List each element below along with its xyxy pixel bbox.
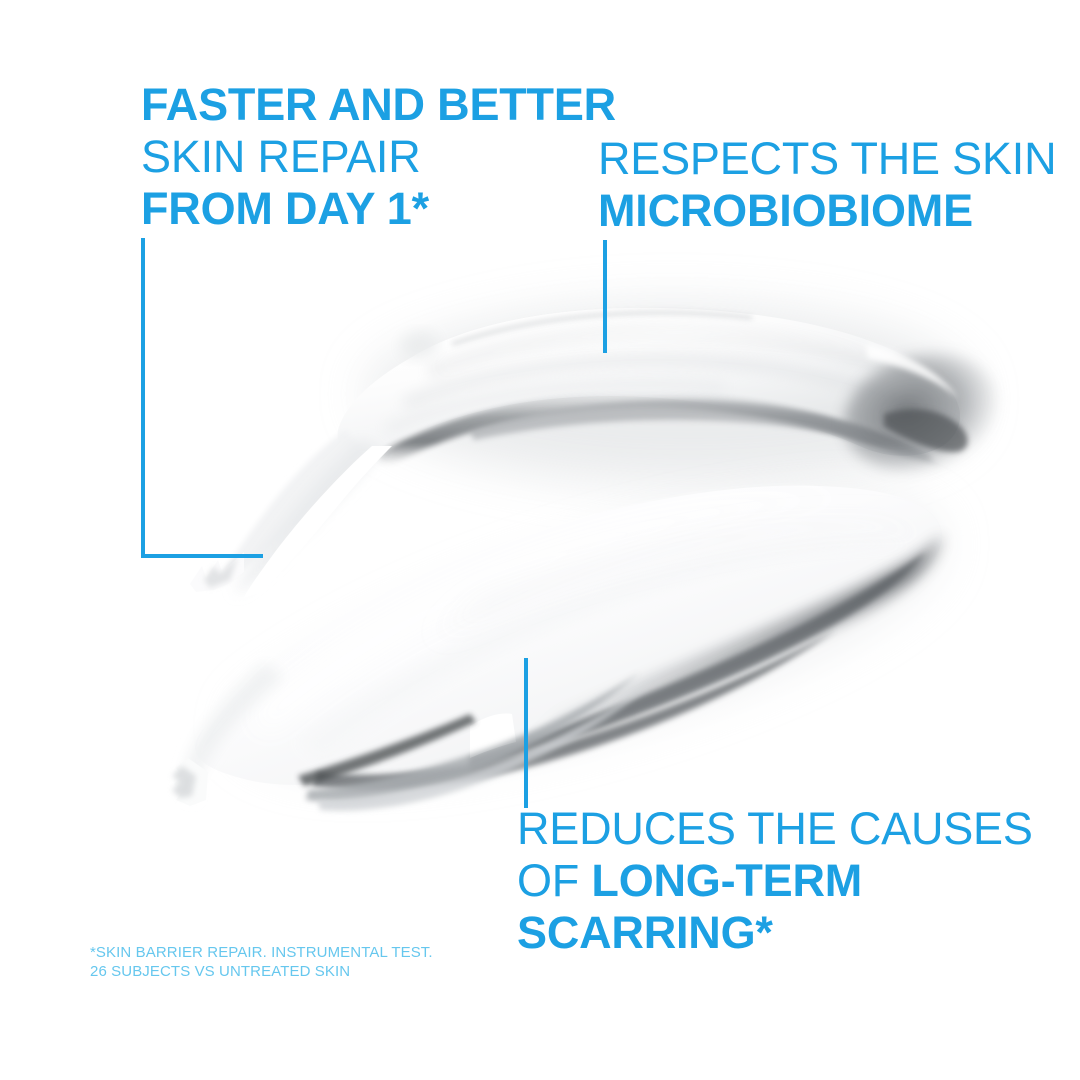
infographic-canvas: FASTER AND BETTER SKIN REPAIR FROM DAY 1… <box>0 0 1080 1080</box>
claim-scarring-line3: SCARRING* <box>517 907 1033 959</box>
upper-stroke-tail <box>190 430 392 598</box>
claim-faster-repair-line1: FASTER AND BETTER <box>141 79 616 131</box>
connector-left-horizontal <box>141 554 263 558</box>
claim-microbiome-line2: MICROBIOBIOME <box>598 185 1056 237</box>
claim-scarring-line1: REDUCES THE CAUSES <box>517 803 1033 855</box>
claim-scarring-line2: OF LONG-TERM <box>517 855 1033 907</box>
claim-microbiome-line1: RESPECTS THE SKIN <box>598 133 1056 185</box>
connector-bottom-right-vertical <box>524 658 528 808</box>
connector-top-right-vertical <box>603 240 607 353</box>
footnote-line2: 26 SUBJECTS VS UNTREATED SKIN <box>90 962 433 981</box>
claim-faster-repair-line2: SKIN REPAIR <box>141 131 616 183</box>
cream-speck <box>401 332 438 358</box>
claim-scarring-line2-bold: LONG-TERM <box>591 855 862 906</box>
footnote-disclaimer: *SKIN BARRIER REPAIR. INSTRUMENTAL TEST.… <box>90 943 433 981</box>
cream-upper-stroke <box>190 305 1011 598</box>
claim-scarring-line2-light: OF <box>517 855 591 906</box>
claim-faster-repair-line3: FROM DAY 1* <box>141 183 616 235</box>
cream-lower-stroke <box>172 486 942 811</box>
claim-microbiome: RESPECTS THE SKIN MICROBIOBIOME <box>598 133 1056 237</box>
footnote-line1: *SKIN BARRIER REPAIR. INSTRUMENTAL TEST. <box>90 943 433 962</box>
claim-faster-repair: FASTER AND BETTER SKIN REPAIR FROM DAY 1… <box>141 79 616 235</box>
connector-left-vertical <box>141 238 145 558</box>
claim-scarring: REDUCES THE CAUSES OF LONG-TERM SCARRING… <box>517 803 1033 959</box>
